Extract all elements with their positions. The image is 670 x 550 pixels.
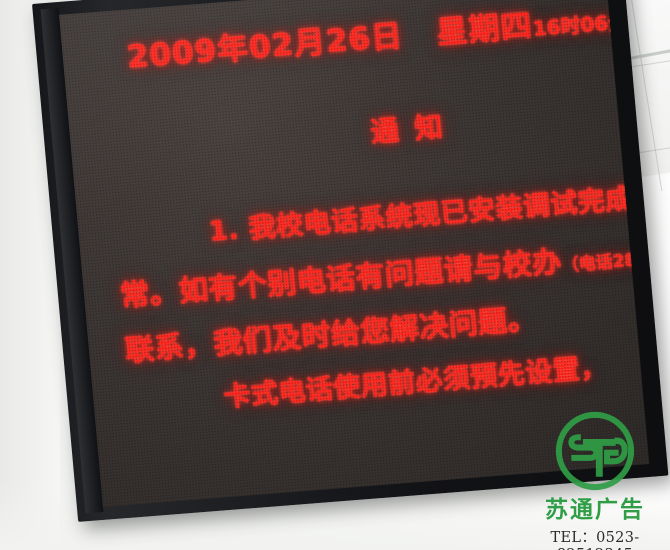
led-weekday: 星期四 <box>435 8 534 51</box>
led-time: 16时06分54秒 <box>532 6 650 41</box>
led-screen: 2009年02月26日星期四16时06分54秒 通知 1. 我校电话系统现已安装… <box>59 0 649 507</box>
led-notice-title: 通知 <box>369 104 460 151</box>
led-body-line-2: 常。如有个别电话有问题请与校办（电话2889000） <box>118 226 649 314</box>
led-display-board: 2009年02月26日星期四16时06分54秒 通知 1. 我校电话系统现已安装… <box>32 0 670 542</box>
led-datetime-line: 2009年02月26日星期四16时06分54秒 <box>125 0 649 77</box>
led-date: 2009年02月26日 <box>126 18 405 76</box>
screenshot-scene: 2009年02月26日星期四16时06分54秒 通知 1. 我校电话系统现已安装… <box>0 0 670 550</box>
